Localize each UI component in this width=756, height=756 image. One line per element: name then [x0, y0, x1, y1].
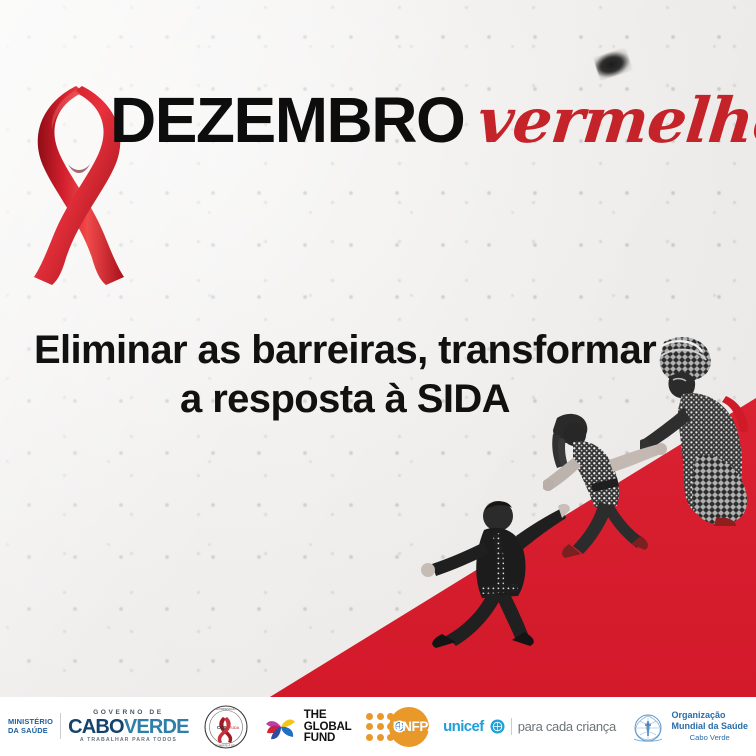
title-main-word: DEZEMBRO — [110, 88, 464, 152]
cabo-verde-word-1: CABO — [68, 716, 124, 738]
who-line-1: Organização — [671, 710, 748, 721]
title-script-word: vermelho — [475, 90, 756, 152]
poster-title: DEZEMBRO vermelho — [110, 88, 750, 166]
poster-canvas: DEZEMBRO vermelho Eliminar as barreiras,… — [0, 0, 756, 756]
logo-governo-cabo-verde: MINISTÉRIO DA SAÚDE GOVERNO DE CABOVERDE… — [8, 710, 189, 744]
logo-divider — [60, 713, 61, 739]
headline-line-1: Eliminar as barreiras, transformar — [34, 328, 656, 372]
logo-unicef: unicef para cada criança — [443, 718, 616, 735]
global-fund-line-3: FUND — [304, 732, 352, 744]
unicef-wordmark: unicef — [443, 718, 484, 735]
logo-ccs-sida: COORDENAÇÃO COMBATE À SIDA CCS SIDA — [203, 704, 249, 750]
cabo-verde-eyebrow: GOVERNO DE — [68, 710, 189, 717]
cabo-verde-word-2: VERDE — [124, 716, 189, 738]
ministerio-line-1: MINISTÉRIO — [8, 717, 53, 726]
unicef-slogan: para cada criança — [518, 719, 616, 734]
unfpa-wordmark: UNFPA — [393, 719, 437, 734]
svg-text:COMBATE À SIDA: COMBATE À SIDA — [215, 743, 237, 747]
unicef-emblem-icon — [490, 719, 505, 734]
who-line-3: Cabo Verde — [671, 734, 748, 743]
unicef-divider — [511, 718, 512, 735]
global-fund-wordmark: THE GLOBAL FUND — [304, 709, 352, 744]
cabo-verde-wordmark: CABOVERDE — [68, 717, 189, 737]
ministerio-line-2: DA SAÚDE — [8, 726, 53, 735]
cabo-verde-tagline: A TRABALHAR PARA TODOS — [68, 738, 189, 743]
poster-headline: Eliminar as barreiras, transformar a res… — [0, 326, 690, 424]
global-fund-pinwheel-icon — [264, 710, 298, 744]
who-line-2: Mundial da Saúde — [671, 721, 748, 732]
who-emblem-icon — [630, 709, 666, 745]
figure-man-reaching — [412, 492, 572, 652]
footer-logo-bar: MINISTÉRIO DA SAÚDE GOVERNO DE CABOVERDE… — [0, 697, 756, 756]
svg-text:CCS: CCS — [217, 725, 226, 730]
cabo-verde-block: GOVERNO DE CABOVERDE A TRABALHAR PARA TO… — [68, 710, 189, 744]
svg-text:SIDA: SIDA — [230, 725, 240, 730]
who-wordmark: Organização Mundial da Saúde Cabo Verde — [671, 710, 748, 743]
unfpa-disc: UNFPA — [389, 707, 429, 747]
logo-who-oms: Organização Mundial da Saúde Cabo Verde — [630, 709, 748, 745]
logo-the-global-fund: THE GLOBAL FUND — [264, 709, 352, 744]
logo-ministerio-saude: MINISTÉRIO DA SAÚDE — [8, 717, 53, 736]
global-fund-line-1: THE — [304, 709, 352, 721]
logo-unfpa: UNFPA — [366, 707, 429, 747]
